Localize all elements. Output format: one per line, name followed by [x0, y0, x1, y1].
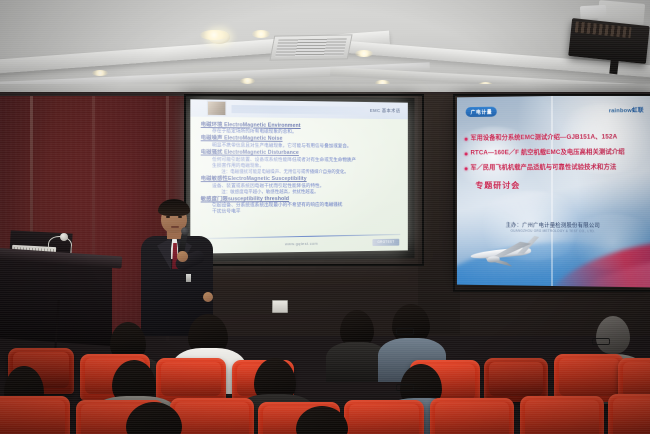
right-banner-screen: 广电计量 rainbow虹联 军用设备和分系统EMC测试介绍—GJB151A、1… [457, 95, 650, 288]
slide-header: EMC 基本术语 [190, 99, 408, 119]
slide-note: 注：电磁骚扰可能是电磁噪声、无用信号或传播媒介自身的变化。 [201, 169, 401, 175]
vent-slats [275, 38, 347, 56]
banner-bullet-item: 军／民用飞机机载产品适航与可靠性试验技术和方法 [465, 164, 643, 172]
presenter-eye [166, 216, 170, 218]
presenter-hand [177, 251, 188, 262]
bullet-icon [465, 138, 468, 141]
bullet-icon [465, 153, 468, 156]
attendee-head-grey [596, 316, 630, 354]
airliner-graphic [470, 235, 543, 269]
slide-definition: 干扰信号电平 [201, 208, 401, 215]
slide-header-image [207, 101, 227, 117]
slide-footer-logo: GRGTEST [372, 239, 399, 246]
seat [430, 398, 514, 434]
projector-bracket [609, 60, 618, 75]
grg-logo: 广电计量 [466, 107, 498, 117]
event-banner: 广电计量 rainbow虹联 军用设备和分系统EMC测试介绍—GJB151A、1… [457, 95, 650, 288]
bullet-icon [465, 167, 468, 170]
seat [608, 394, 650, 434]
attendee-glasses [592, 338, 610, 345]
rainbow-logo-cn: 虹联 [632, 108, 644, 114]
seat [344, 400, 424, 434]
banner-title: 专题研讨会 [475, 179, 642, 191]
gooseneck-mic-head [60, 233, 68, 241]
slide-definition: 明显不携带信息且对生产电磁现象，它可能与有用信号叠加或复合。 [201, 142, 401, 149]
recessed-downlight [92, 70, 108, 76]
ceiling-projector [568, 18, 650, 64]
recessed-downlight [252, 30, 270, 38]
banner-bullet-item: RTCA—160E／F 航空机载EMC及电压高相关测试介绍 [465, 148, 643, 157]
banner-bullet-text: RTCA—160E／F 航空机载EMC及电压高相关测试介绍 [470, 149, 624, 157]
attendee-glasses [396, 328, 414, 335]
rainbow-logo: rainbow虹联 [609, 106, 644, 115]
ceiling [0, 0, 650, 96]
presenter-eye [178, 216, 182, 218]
hvac-vent-icon [269, 34, 352, 60]
slide-footer-rule [199, 234, 401, 239]
recessed-downlight [355, 50, 373, 57]
banner-bullet-text: 军用设备和分系统EMC测试介绍—GJB151A、152A [470, 133, 617, 142]
slide-note: 注：敏感度电平越小，敏感性越高，抗扰性越差。 [201, 188, 401, 194]
presenter-badge [186, 274, 191, 282]
attendee-glasses [396, 384, 414, 391]
presenter-hair [158, 199, 190, 216]
seat [520, 396, 604, 434]
banner-bullet-item: 军用设备和分系统EMC测试介绍—GJB151A、152A [465, 133, 643, 142]
auditorium-photo: EMC 基本术语 电磁环境 ElectroMagnetic Environmen… [0, 0, 650, 434]
recessed-downlight [200, 30, 228, 40]
audience-area [0, 300, 650, 434]
presenter-mouth [171, 226, 179, 228]
slide-header-title: EMC 基本术语 [370, 107, 400, 113]
banner-bullet-list: 军用设备和分系统EMC测试介绍—GJB151A、152A RTCA—160E／F… [457, 133, 650, 191]
rainbow-logo-en: rainbow [609, 108, 632, 114]
seat [156, 358, 226, 402]
seat [0, 396, 70, 434]
slide-header-bar [232, 104, 366, 114]
projector-vent [575, 21, 632, 38]
seat [170, 398, 254, 434]
wall-panel-gap [418, 94, 460, 334]
banner-bullet-text: 军／民用飞机机载产品适航与可靠性试验技术和方法 [470, 164, 616, 172]
